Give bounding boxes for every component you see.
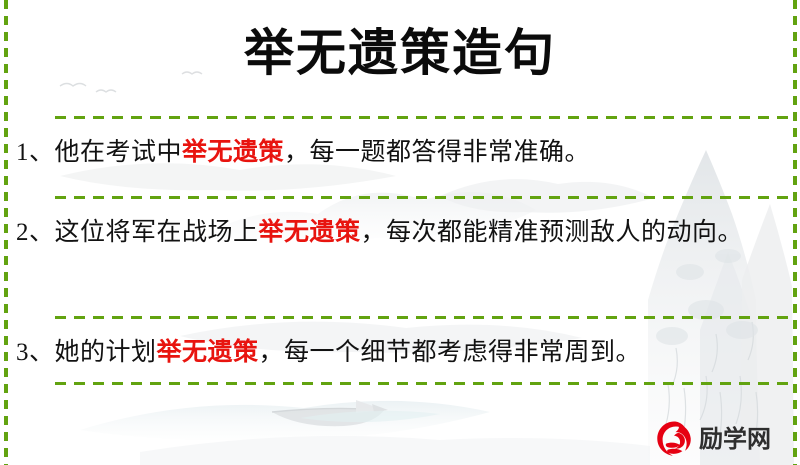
sentence-3-text-before: 她的计划 xyxy=(55,339,157,366)
site-watermark: 励学网 xyxy=(655,418,790,460)
sentence-3-text-after: ，每一个细节都考虑得非常周到。 xyxy=(259,339,642,366)
site-name-label: 励学网 xyxy=(699,426,771,452)
sentence-1-text-before: 他在考试中 xyxy=(55,139,183,166)
sentence-item-1: 1、他在考试中举无遗策，每一题都答得非常准确。 xyxy=(16,131,784,174)
sentence-item-3: 3、她的计划举无遗策，每一个细节都考虑得非常周到。 xyxy=(16,331,784,374)
divider-1 xyxy=(55,116,791,119)
sentence-2-index: 2、 xyxy=(16,219,55,246)
sentence-1-index: 1、 xyxy=(16,139,55,166)
divider-3 xyxy=(55,316,791,319)
sentence-1-idiom: 举无遗策 xyxy=(182,137,284,166)
sentence-2-text-before: 这位将军在战场上 xyxy=(55,219,259,246)
swirl-flame-logo-icon xyxy=(655,420,693,458)
sentence-1-text-after: ，每一题都答得非常准确。 xyxy=(284,139,590,166)
sentence-card-page: 举无遗策造句 1、他在考试中举无遗策，每一题都答得非常准确。 2、这位将军在战场… xyxy=(0,0,800,465)
sentence-2-text-after: ，每次都能精准预测敌人的动向。 xyxy=(361,219,744,246)
divider-4 xyxy=(55,382,791,385)
sentence-2-idiom: 举无遗策 xyxy=(259,217,361,246)
sentence-3-index: 3、 xyxy=(16,339,55,366)
divider-2 xyxy=(55,196,791,199)
sentence-item-2: 2、这位将军在战场上举无遗策，每次都能精准预测敌人的动向。 xyxy=(16,211,784,254)
page-title: 举无遗策造句 xyxy=(0,22,800,84)
sentence-3-idiom: 举无遗策 xyxy=(157,337,259,366)
